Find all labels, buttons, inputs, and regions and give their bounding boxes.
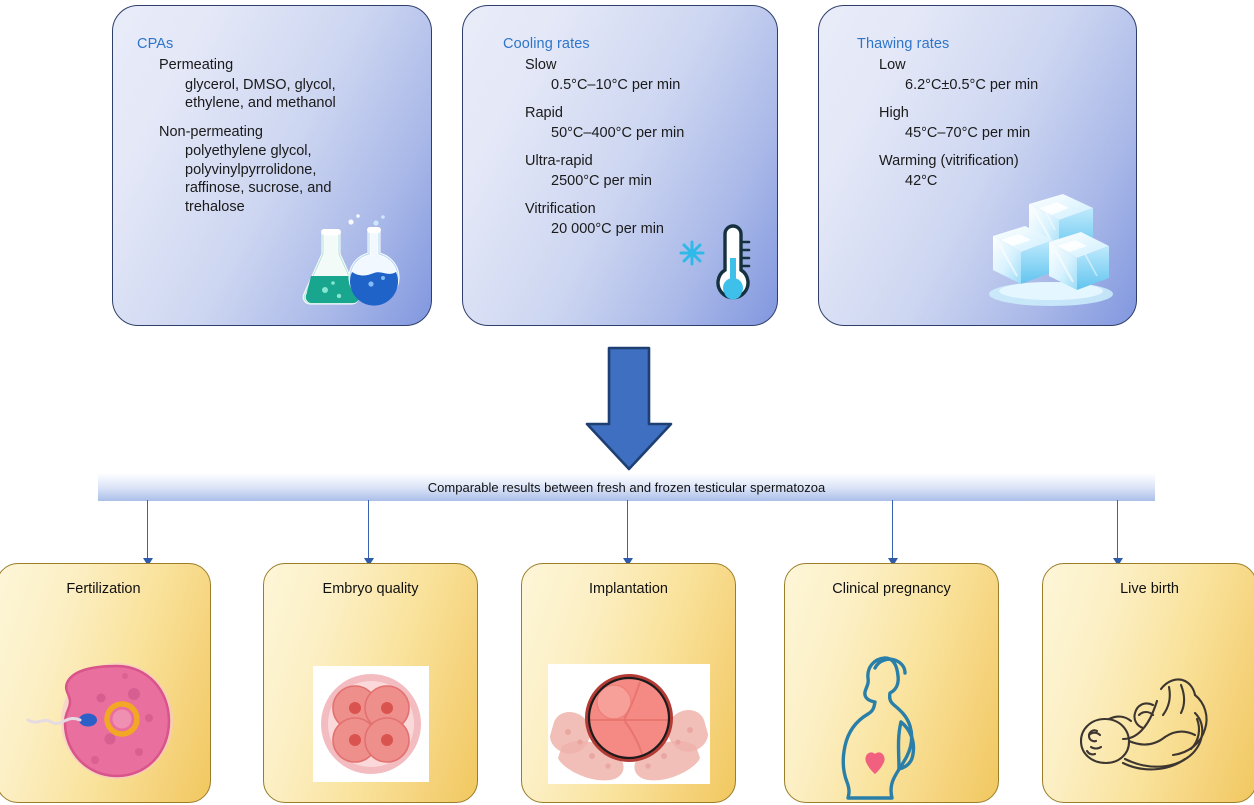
cooling-group-ultra-rapid: Ultra-rapid 2500°C per min	[503, 154, 684, 188]
cpa-non-permeating-value-1: polyethylene glycol,	[185, 144, 336, 159]
thermometer-snowflake-icon	[675, 224, 761, 315]
ice-cubes-icon	[977, 184, 1125, 313]
cpa-permeating-value-2: ethylene, and methanol	[185, 96, 336, 111]
cooling-ultra-rapid-label: Ultra-rapid	[525, 154, 684, 169]
cooling-rapid-value: 50°C–400°C per min	[551, 126, 684, 141]
oocyte-sperm-icon	[9, 656, 199, 791]
thawing-group-high: High 45°C–70°C per min	[857, 106, 1038, 140]
newborn-baby-icon	[1057, 659, 1243, 784]
panel-cooling-rates: Cooling rates Slow 0.5°C–10°C per min Ra…	[462, 5, 778, 326]
panel-cpas-body: Permeating glycerol, DMSO, glycol, ethyl…	[137, 58, 336, 218]
cooling-rapid-label: Rapid	[525, 106, 684, 121]
cpa-non-permeating-value-3: raffinose, sucrose, and	[185, 181, 336, 196]
connector-line-implantation	[627, 500, 628, 562]
outcome-card-implantation[interactable]: Implantation	[521, 563, 736, 803]
cooling-group-rapid: Rapid 50°C–400°C per min	[503, 106, 684, 140]
outcome-label-fertilization: Fertilization	[0, 581, 210, 597]
cooling-ultra-rapid-value: 2500°C per min	[551, 174, 684, 189]
thawing-group-warming: Warming (vitrification) 42°C	[857, 154, 1038, 188]
cpa-permeating-label: Permeating	[159, 58, 336, 73]
panel-thawing-rates: Thawing rates Low 6.2°C±0.5°C per min Hi…	[818, 5, 1137, 326]
outcome-label-embryo-quality: Embryo quality	[264, 581, 477, 597]
cpa-permeating-value-1: glycerol, DMSO, glycol,	[185, 78, 336, 93]
connector-line-embryo-quality	[368, 500, 369, 562]
connector-line-fertilization	[147, 500, 148, 562]
panel-thawing-rates-title: Thawing rates	[857, 36, 949, 52]
cooling-slow-label: Slow	[525, 58, 684, 73]
outcome-card-live-birth[interactable]: Live birth	[1042, 563, 1254, 803]
thawing-low-label: Low	[879, 58, 1038, 73]
outcome-card-clinical-pregnancy[interactable]: Clinical pregnancy	[784, 563, 999, 803]
flasks-icon	[295, 214, 405, 315]
cpa-non-permeating-label: Non-permeating	[159, 125, 336, 140]
cooling-vitrification-label: Vitrification	[525, 202, 684, 217]
four-cell-embryo-icon	[313, 666, 429, 782]
thawing-low-value: 6.2°C±0.5°C per min	[905, 78, 1038, 93]
outcome-card-fertilization[interactable]: Fertilization	[0, 563, 211, 803]
cpa-non-permeating-value-4: trehalose	[185, 200, 336, 215]
outcome-label-clinical-pregnancy: Clinical pregnancy	[785, 581, 998, 597]
thawing-group-low: Low 6.2°C±0.5°C per min	[857, 58, 1038, 92]
panel-cpas: CPAs Permeating glycerol, DMSO, glycol, …	[112, 5, 432, 326]
panel-cooling-rates-body: Slow 0.5°C–10°C per min Rapid 50°C–400°C…	[503, 58, 684, 239]
outcome-label-implantation: Implantation	[522, 581, 735, 597]
down-arrow-icon	[584, 346, 674, 472]
outcome-card-embryo-quality[interactable]: Embryo quality	[263, 563, 478, 803]
blastocyst-implantation-icon	[548, 664, 710, 784]
results-banner: Comparable results between fresh and fro…	[98, 473, 1155, 501]
connector-line-live-birth	[1117, 500, 1118, 562]
panel-cpas-title: CPAs	[137, 36, 173, 52]
panel-cooling-rates-title: Cooling rates	[503, 36, 590, 52]
panel-thawing-rates-body: Low 6.2°C±0.5°C per min High 45°C–70°C p…	[857, 58, 1038, 191]
connector-line-clinical-pregnancy	[892, 500, 893, 562]
thawing-high-label: High	[879, 106, 1038, 121]
cpa-non-permeating-value-2: polyvinylpyrrolidone,	[185, 163, 336, 178]
thawing-warming-label: Warming (vitrification)	[879, 154, 1038, 169]
cooling-group-slow: Slow 0.5°C–10°C per min	[503, 58, 684, 92]
outcome-label-live-birth: Live birth	[1043, 581, 1254, 597]
cooling-group-vitrification: Vitrification 20 000°C per min	[503, 202, 684, 236]
cooling-vitrification-value: 20 000°C per min	[551, 222, 684, 237]
cpa-group-non-permeating: Non-permeating polyethylene glycol, poly…	[137, 125, 336, 215]
cooling-slow-value: 0.5°C–10°C per min	[551, 78, 684, 93]
results-banner-text: Comparable results between fresh and fro…	[428, 480, 825, 495]
cpa-group-permeating: Permeating glycerol, DMSO, glycol, ethyl…	[137, 58, 336, 111]
thawing-high-value: 45°C–70°C per min	[905, 126, 1038, 141]
pregnant-woman-icon	[827, 652, 957, 803]
